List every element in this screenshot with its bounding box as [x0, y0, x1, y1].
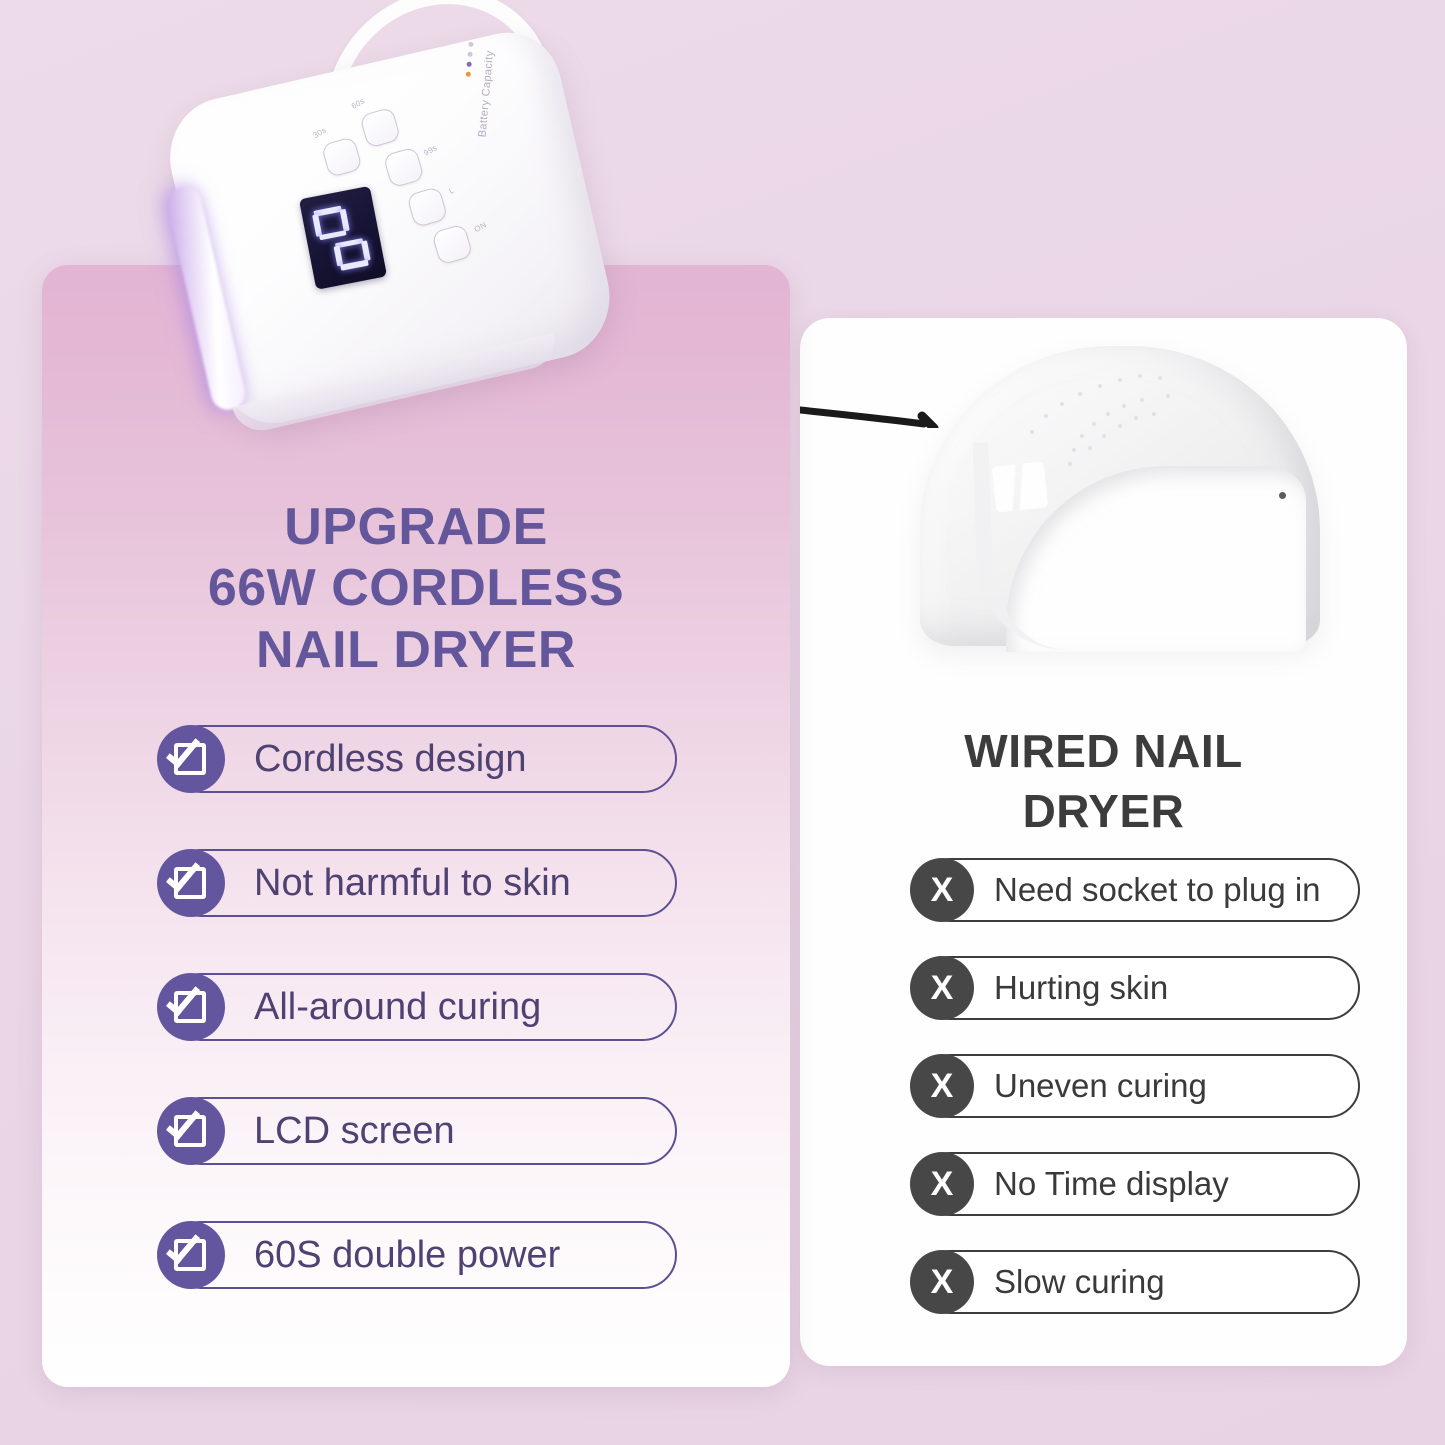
title-line-1: UPGRADE [42, 497, 790, 558]
drawbacks-list: X Need socket to plug in X Hurting skin … [910, 858, 1360, 1348]
dome-highlight [992, 461, 1049, 512]
x-icon: X [910, 858, 974, 922]
drawback-label: Hurting skin [994, 956, 1168, 1020]
checkbox-icon [157, 973, 225, 1041]
wired-nail-dryer-photo [860, 340, 1380, 670]
feature-label: All-around curing [254, 973, 541, 1041]
feature-label: 60S double power [254, 1221, 560, 1289]
checkbox-icon [157, 725, 225, 793]
list-item[interactable]: 60S double power [157, 1221, 677, 1289]
list-item[interactable]: X Slow curing [910, 1250, 1360, 1314]
wired-dryer-panel: WIRED NAIL DRYER X Need socket to plug i… [800, 318, 1407, 1366]
power-cord-icon [800, 402, 958, 428]
drawback-label: Slow curing [994, 1250, 1165, 1314]
cordless-nail-dryer-photo: 30s 60s 99s L ON Battery Capacity [150, 8, 660, 498]
x-icon: X [910, 956, 974, 1020]
checkbox-icon [157, 849, 225, 917]
wired-dryer-title: WIRED NAIL DRYER [800, 722, 1407, 842]
x-icon: X [910, 1054, 974, 1118]
title-line-2: 66W CORDLESS [42, 558, 790, 619]
checkbox-icon [157, 1221, 225, 1289]
drawback-label: No Time display [994, 1152, 1229, 1216]
features-list: Cordless design Not harmful to skin All-… [157, 725, 677, 1345]
list-item[interactable]: X Hurting skin [910, 956, 1360, 1020]
checkbox-icon [157, 1097, 225, 1165]
dryer-dome [920, 346, 1320, 646]
list-item[interactable]: X No Time display [910, 1152, 1360, 1216]
dome-indicator-led [1279, 492, 1286, 499]
wired-title-line-1: WIRED NAIL [840, 722, 1367, 782]
cordless-device: 30s 60s 99s L ON Battery Capacity [158, 22, 622, 434]
title-line-3: NAIL DRYER [42, 620, 790, 681]
list-item[interactable]: All-around curing [157, 973, 677, 1041]
list-item[interactable]: LCD screen [157, 1097, 677, 1165]
list-item[interactable]: X Uneven curing [910, 1054, 1360, 1118]
page-title: UPGRADE 66W CORDLESS NAIL DRYER [42, 497, 790, 681]
feature-label: LCD screen [254, 1097, 455, 1165]
feature-label: Cordless design [254, 725, 526, 793]
list-item[interactable]: Cordless design [157, 725, 677, 793]
drawback-label: Uneven curing [994, 1054, 1207, 1118]
x-icon: X [910, 1152, 974, 1216]
feature-label: Not harmful to skin [254, 849, 571, 917]
drawback-label: Need socket to plug in [994, 858, 1321, 922]
list-item[interactable]: Not harmful to skin [157, 849, 677, 917]
wired-title-line-2: DRYER [840, 782, 1367, 842]
list-item[interactable]: X Need socket to plug in [910, 858, 1360, 922]
x-icon: X [910, 1250, 974, 1314]
infographic-canvas: WIRED NAIL DRYER X Need socket to plug i… [0, 0, 1445, 1445]
